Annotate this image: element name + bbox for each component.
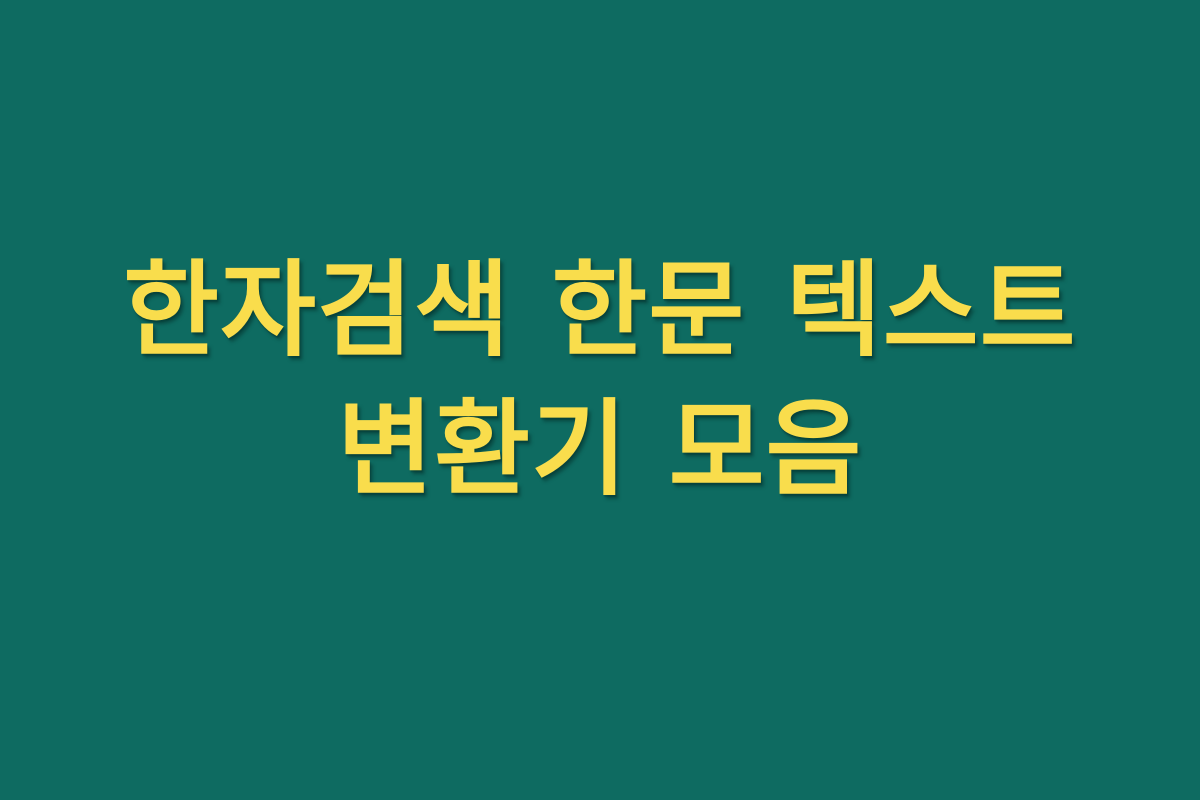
banner-headline: 한자검색 한문 텍스트 변환기 모음 (70, 242, 1130, 521)
headline-container: 한자검색 한문 텍스트 변환기 모음 (70, 242, 1130, 521)
banner-background: 한자검색 한문 텍스트 변환기 모음 (0, 0, 1200, 800)
